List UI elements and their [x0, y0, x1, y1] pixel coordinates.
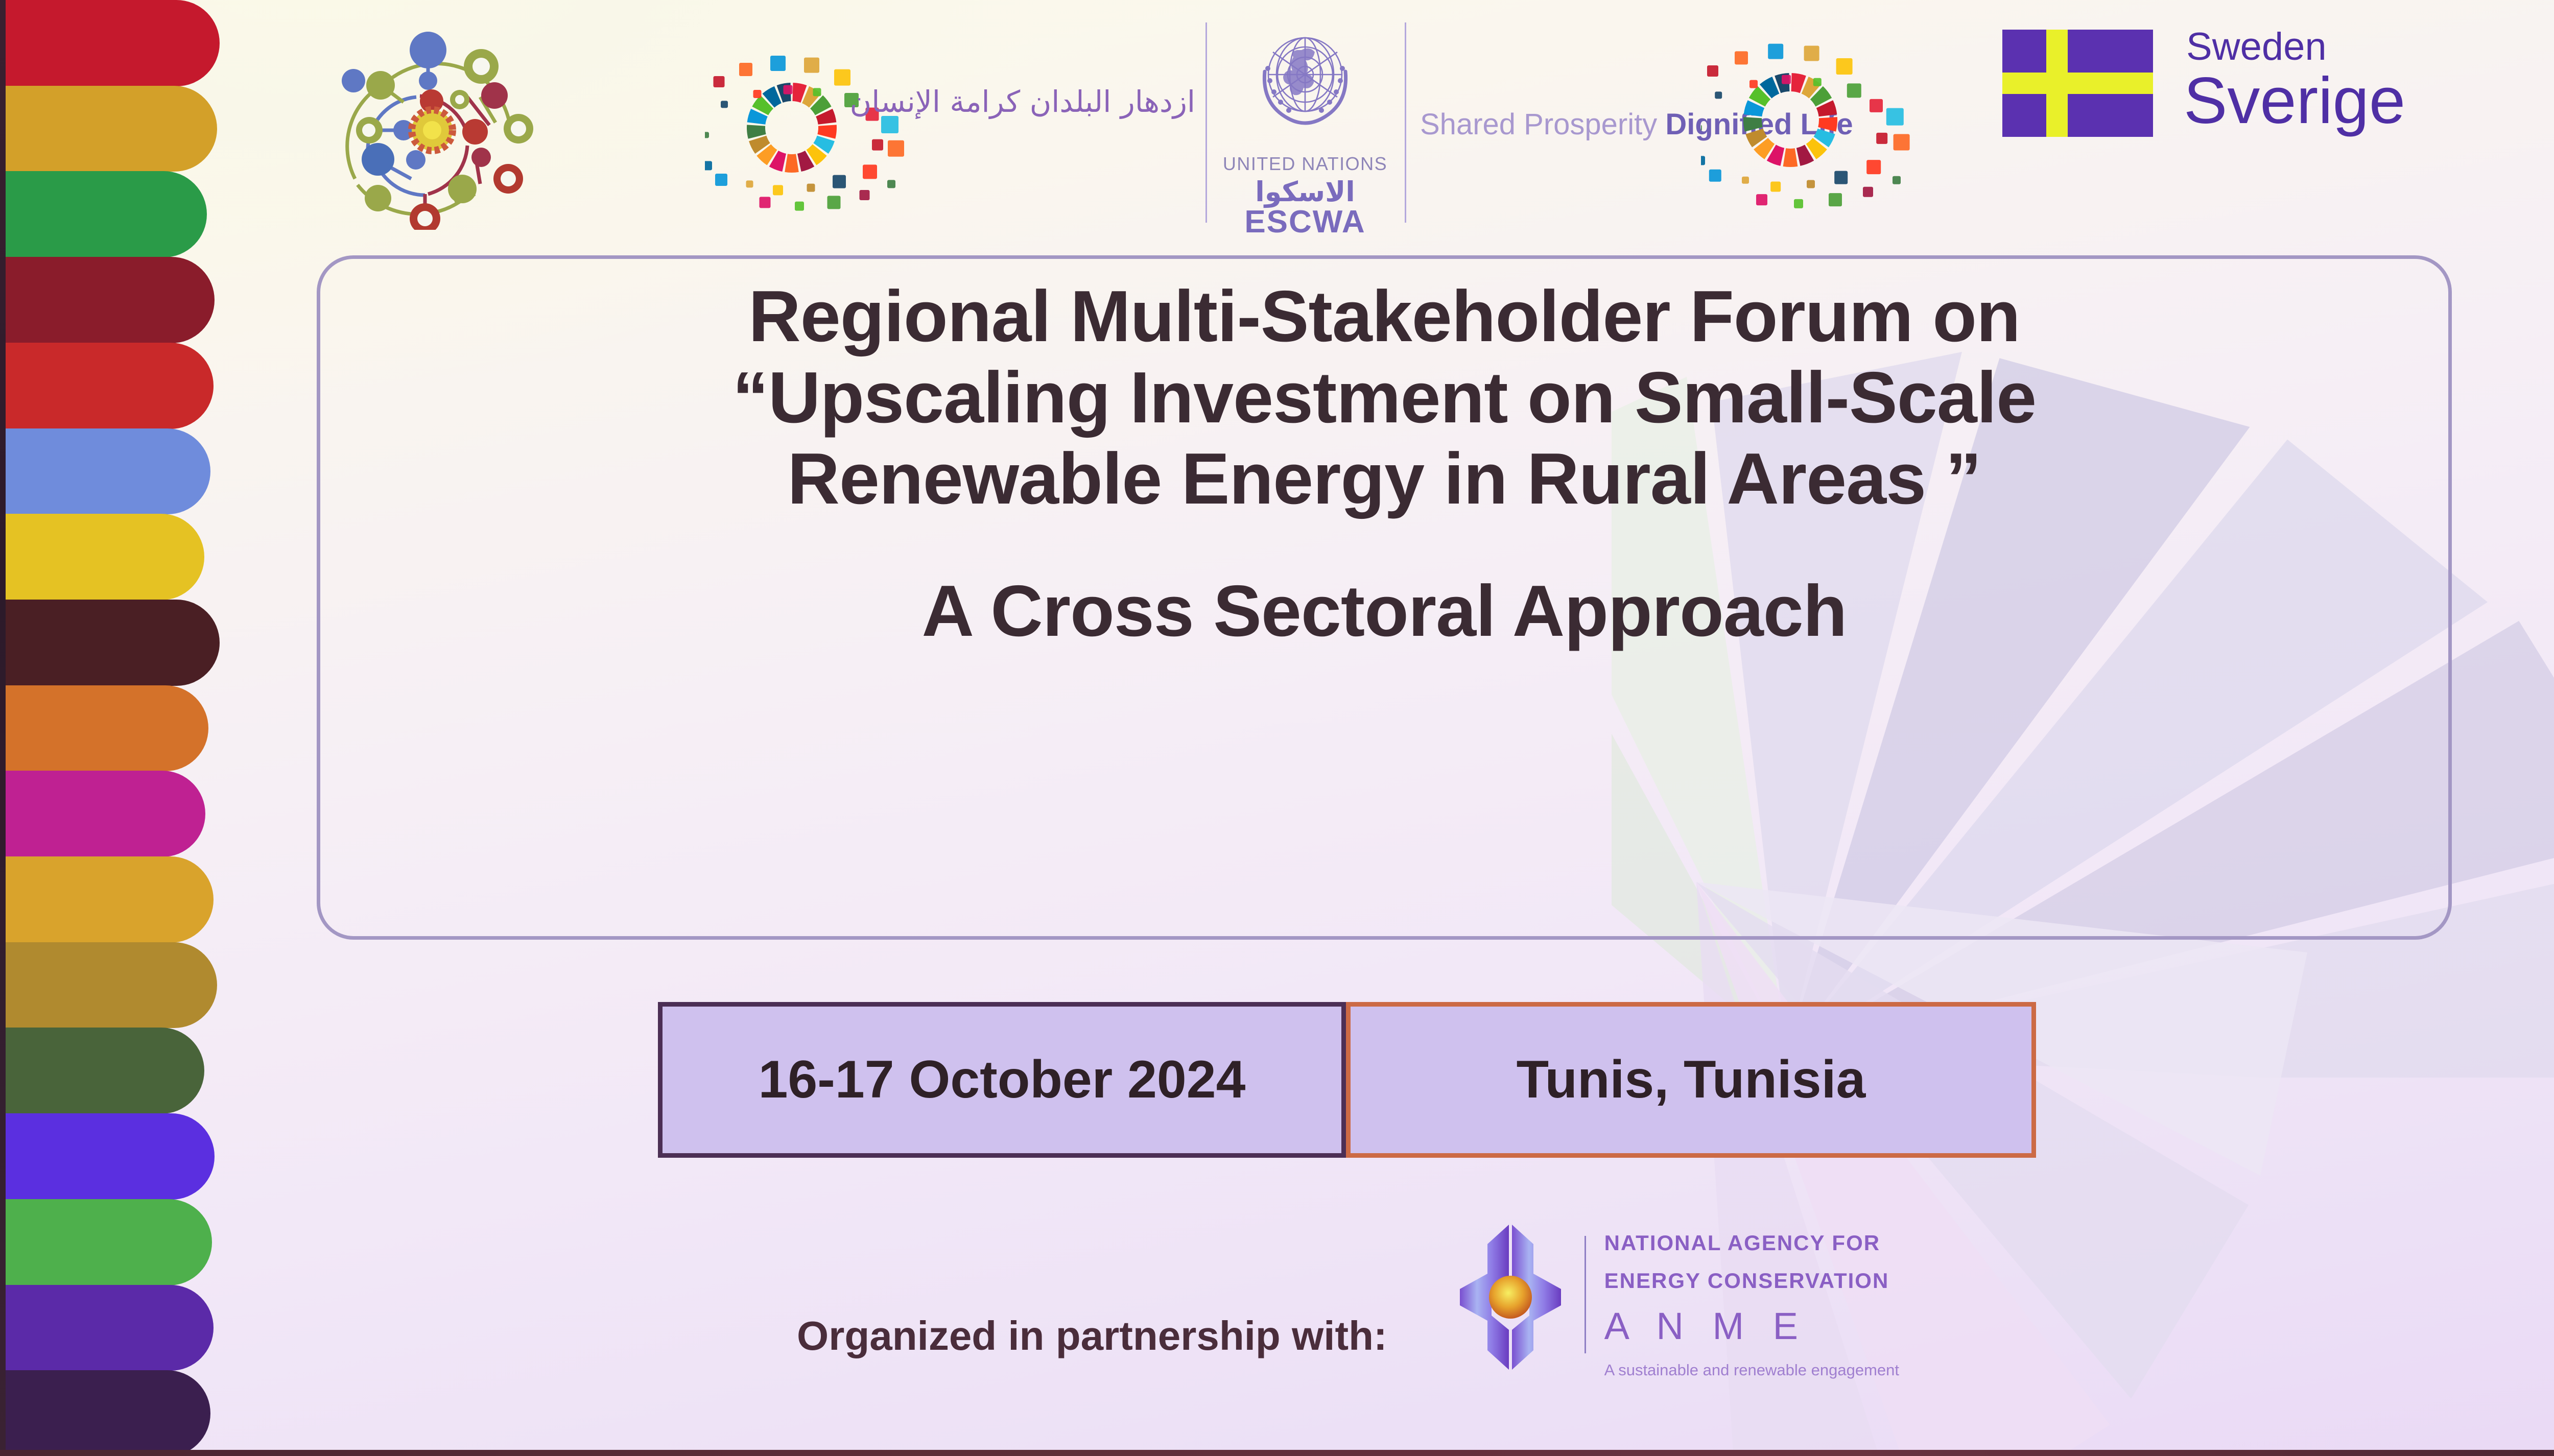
sdg-square [1756, 194, 1767, 205]
sdg-stripe [6, 343, 214, 429]
sdg-square [784, 85, 793, 94]
title-line-1: Regional Multi-Stakeholder Forum on [327, 276, 2442, 357]
escwa-left-rule [1205, 22, 1207, 223]
sdg-square [1715, 91, 1722, 99]
sdg-square [1794, 199, 1803, 208]
logo-header-row: ازدهار البلدان كرامة الإنسان [0, 0, 2554, 240]
sdg-square [721, 101, 728, 108]
sdg-square [827, 196, 841, 209]
event-location-box: Tunis, Tunisia [1346, 1002, 2036, 1158]
sdg-square [773, 185, 783, 195]
sdg-wheel-segment [785, 154, 798, 173]
sdg-square [1742, 177, 1749, 184]
united-nations-label: UNITED NATIONS [1216, 153, 1394, 175]
sdg-wheel-segment [1783, 148, 1798, 167]
sweden-sverige-logo: Sweden Sverige [2002, 25, 2539, 208]
arabic-tagline: ازدهار البلدان كرامة الإنسان [850, 84, 1195, 119]
sdg-squares-arabic-logo: ازدهار البلدان كرامة الإنسان [705, 28, 1195, 227]
sdg-square [705, 132, 709, 138]
sdg-stripe [6, 685, 208, 772]
sdg-square [1768, 44, 1783, 59]
partnership-label: Organized in partnership with: [797, 1312, 1387, 1359]
sweden-label: Sweden [2186, 25, 2327, 69]
un-escwa-logo: UNITED NATIONS الاسكوا ESCWA Shared Pros… [1205, 11, 1767, 231]
sdg-square [715, 174, 727, 186]
event-date: 16-17 October 2024 [759, 1049, 1246, 1110]
anme-text-block: NATIONAL AGENCY FOR ENERGY CONSERVATION … [1604, 1231, 1899, 1379]
sdg-square [1836, 58, 1853, 75]
anme-line-2: ENERGY CONSERVATION [1604, 1269, 1899, 1293]
title-block: Regional Multi-Stakeholder Forum on “Ups… [327, 276, 2442, 653]
sdg-wheel-segment [1743, 117, 1763, 132]
sdg-stripe [6, 771, 205, 857]
sdg-square [807, 184, 815, 192]
anme-acronym: A N M E [1604, 1304, 1899, 1348]
un-emblem-icon [1241, 26, 1369, 151]
sdg-wheel-segment [1818, 117, 1837, 132]
sdg-square [705, 161, 712, 170]
sdg-square [714, 76, 725, 87]
sdg-stripe [6, 856, 214, 943]
sdg-square [834, 69, 850, 86]
event-meta-row: 16-17 October 2024 Tunis, Tunisia [658, 1002, 2036, 1158]
tagline-light: Shared Prosperity [1420, 108, 1665, 141]
sdg-square [760, 197, 771, 208]
escwa-label: ESCWA [1216, 206, 1394, 238]
sdg-square [1749, 80, 1758, 88]
sdg-square [739, 63, 752, 76]
sdg-square [887, 180, 895, 188]
sdg-square [863, 164, 877, 179]
sdg-square [888, 140, 904, 157]
sdg-stripe [6, 428, 210, 515]
sdg-square [1813, 78, 1822, 86]
sdg-square [1893, 176, 1901, 184]
sdg-stripe [6, 1199, 212, 1285]
sdg-square [1847, 83, 1861, 98]
sdg-square [1707, 65, 1718, 77]
event-location: Tunis, Tunisia [1517, 1049, 1866, 1110]
sdg-square [813, 88, 821, 96]
event-date-box: 16-17 October 2024 [658, 1002, 1346, 1158]
sdg-stripe [6, 514, 204, 600]
anme-line-1: NATIONAL AGENCY FOR [1604, 1231, 1899, 1255]
sdg-square [1735, 51, 1748, 64]
sdg-square [1829, 193, 1842, 206]
sverige-label: Sverige [2184, 68, 2405, 134]
sdg-square [1866, 160, 1881, 174]
conference-title-slide: ازدهار البلدان كرامة الإنسان [0, 0, 2554, 1456]
sdg-stripe [6, 600, 220, 686]
bottom-edge-bar [0, 1450, 2554, 1456]
sdg-square [1863, 187, 1873, 197]
sdg-square [1807, 180, 1815, 188]
anme-slogan: A sustainable and renewable engagement [1604, 1361, 1899, 1379]
nexus-network-logo [306, 26, 536, 230]
sdg-wheel-logo [1701, 15, 1967, 225]
sdg-stripe [6, 257, 215, 343]
sdg-stripe [6, 1285, 214, 1371]
partnership-row: Organized in partnership with: [797, 1261, 1899, 1410]
sdg-square [1870, 99, 1883, 112]
sdg-square [1701, 125, 1702, 131]
title-line-3: Renewable Energy in Rural Areas ” [327, 438, 2442, 519]
sdg-square [860, 190, 870, 200]
subtitle: A Cross Sectoral Approach [327, 569, 2442, 653]
sdg-square [1876, 133, 1887, 144]
sdg-stripe [6, 1370, 210, 1456]
sdg-stripe [6, 1028, 204, 1114]
sdg-square [1894, 134, 1910, 151]
sweden-flag-icon [2002, 30, 2153, 137]
sdg-square [795, 202, 804, 211]
sdg-square [1886, 108, 1904, 126]
anme-mark-icon [1449, 1221, 1571, 1374]
anme-divider [1585, 1236, 1586, 1353]
sdg-square [872, 139, 883, 151]
sdg-square [746, 180, 753, 187]
sdg-square [1709, 170, 1721, 182]
sdg-square [770, 56, 786, 71]
sdg-stripe [6, 1113, 215, 1200]
escwa-arabic-label: الاسكوا [1216, 176, 1394, 208]
sdg-square [804, 58, 819, 73]
sdg-square [1804, 45, 1819, 61]
sdg-square [1782, 75, 1791, 84]
escwa-right-rule [1405, 22, 1406, 223]
sdg-square [753, 90, 762, 98]
anme-logo: NATIONAL AGENCY FOR ENERGY CONSERVATION … [1449, 1261, 1899, 1410]
sdg-stripe [6, 942, 217, 1029]
sdg-square [833, 175, 846, 188]
sdg-square [1834, 171, 1848, 184]
sdg-square [1701, 156, 1705, 165]
title-line-2: “Upscaling Investment on Small-Scale [327, 357, 2442, 438]
sdg-wheel-segment [817, 125, 837, 138]
sdg-wheel-segment [747, 125, 766, 138]
sdg-square [1770, 182, 1781, 192]
